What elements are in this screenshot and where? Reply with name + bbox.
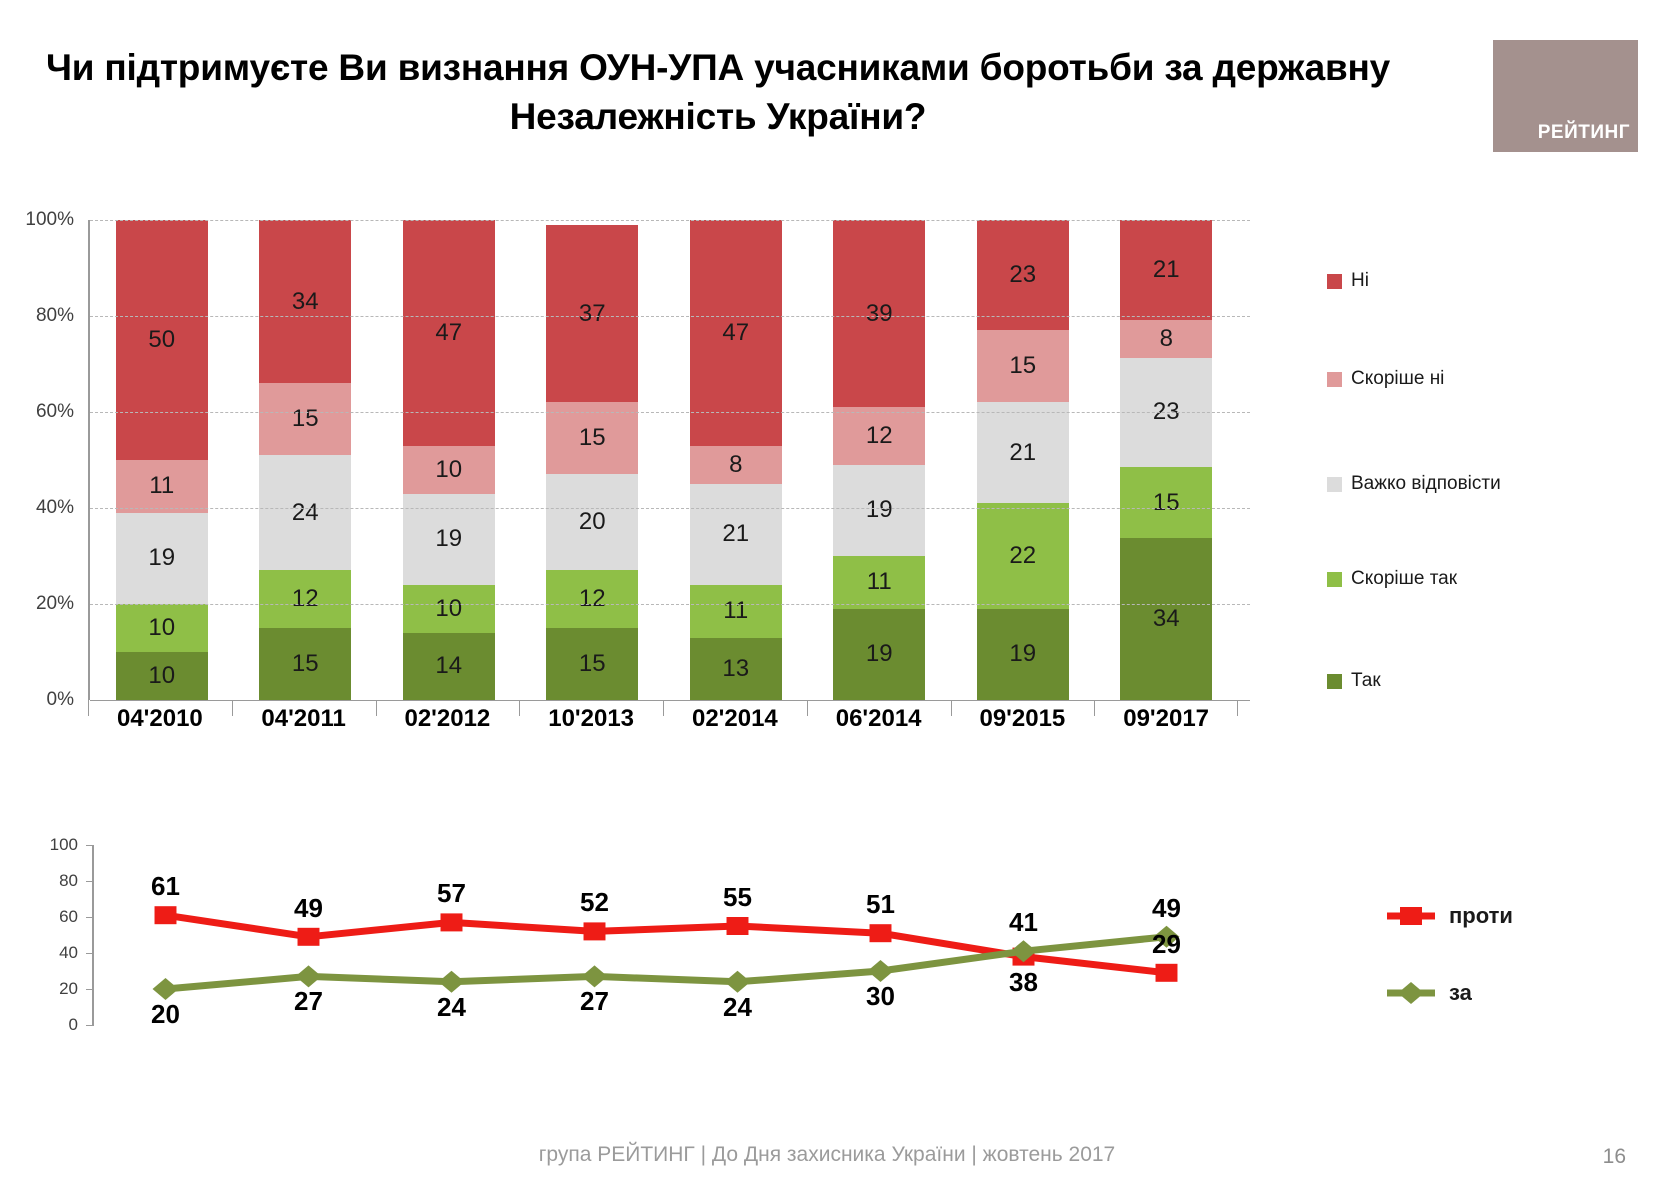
bar-segment: 11 <box>116 460 208 513</box>
line-data-label: 38 <box>1009 967 1038 998</box>
bar-segment-value: 19 <box>866 496 893 524</box>
bar-segment: 15 <box>1120 467 1212 538</box>
bar-segment-value: 22 <box>1009 542 1036 570</box>
line-data-label: 61 <box>151 871 180 902</box>
bar-segment-value: 11 <box>723 597 748 625</box>
line-data-label: 20 <box>151 999 180 1030</box>
bar-y-tick-label: 100% <box>25 209 74 231</box>
bar-segment-value: 21 <box>722 520 749 548</box>
bar-segment: 15 <box>259 383 351 455</box>
bar-segment-value: 12 <box>579 585 606 613</box>
bar-x-tick-label: 02'2014 <box>663 705 807 733</box>
bar-chart-legend: НіСкоріше ніВажко відповістиСкоріше такТ… <box>1327 250 1627 700</box>
line-y-tick-label: 100 <box>50 835 78 855</box>
legend-item-3[interactable]: Скоріше так <box>1327 568 1457 590</box>
legend-label: Скоріше так <box>1351 568 1457 590</box>
line-data-label: 41 <box>1009 907 1038 938</box>
bar-segment-value: 8 <box>1160 325 1173 353</box>
bar-segment: 12 <box>546 570 638 628</box>
bar-segment: 10 <box>403 585 495 633</box>
bar-segment-value: 15 <box>292 650 319 678</box>
bar-column: 1512241534 <box>234 220 378 700</box>
bar-chart-y-axis: 0%20%40%60%80%100% <box>0 200 80 680</box>
bar-x-tick-label: 10'2013 <box>519 705 663 733</box>
bar-segment-value: 12 <box>292 585 319 613</box>
bar-segment: 19 <box>977 609 1069 700</box>
page-title: Чи підтримуєте Ви визнання ОУН-УПА учасн… <box>38 44 1398 142</box>
line-data-label: 57 <box>437 878 466 909</box>
line-chart-data-labels: 61495752555138292027242724304149 <box>94 845 1238 1025</box>
bar-gridline <box>90 316 1250 317</box>
bar-segment: 15 <box>546 628 638 700</box>
legend-item-2[interactable]: Важко відповісти <box>1327 473 1501 495</box>
bar-segment-value: 21 <box>1009 439 1036 467</box>
line-data-label: 55 <box>723 882 752 913</box>
bar-gridline <box>90 412 1250 413</box>
bar-segment-value: 21 <box>1153 256 1180 284</box>
bar-column: 1010191150 <box>90 220 234 700</box>
bar-segment: 21 <box>690 484 782 585</box>
bar-y-tick-label: 80% <box>36 305 74 327</box>
line-y-tick <box>86 953 94 954</box>
bar-segment: 20 <box>546 474 638 570</box>
stacked-bar-chart: 0%20%40%60%80%100% 101019115015122415341… <box>0 200 1300 760</box>
bar-segment-value: 13 <box>722 655 749 683</box>
bar-y-tick-label: 0% <box>47 689 74 711</box>
bar-segment-value: 39 <box>866 300 893 328</box>
legend-swatch-icon <box>1327 477 1342 492</box>
bar-segment-value: 19 <box>148 544 175 572</box>
bar-segment-value: 15 <box>1009 352 1036 380</box>
page-number: 16 <box>1603 1145 1626 1169</box>
bar-x-tick-label: 09'2015 <box>951 705 1095 733</box>
line-legend-label: проти <box>1449 903 1513 929</box>
line-chart-legend: протиза <box>1385 885 1635 1025</box>
bar-segment-value: 15 <box>579 650 606 678</box>
bar-segment-value: 11 <box>149 472 174 500</box>
bar-segment-value: 19 <box>1009 640 1036 668</box>
line-legend-item-0[interactable]: проти <box>1385 903 1513 929</box>
line-data-label: 52 <box>580 887 609 918</box>
line-data-label: 29 <box>1152 929 1181 960</box>
bar-segment: 15 <box>259 628 351 700</box>
bar-segment-value: 10 <box>435 456 462 484</box>
legend-line-diamond-marker-icon <box>1385 980 1437 1006</box>
legend-item-0[interactable]: Ні <box>1327 270 1369 292</box>
stacked-bar: 1922211523 <box>977 220 1069 700</box>
bar-segment: 8 <box>690 446 782 484</box>
bar-segment-value: 15 <box>579 424 606 452</box>
bar-segment: 50 <box>116 220 208 460</box>
bar-segment-value: 12 <box>866 422 893 450</box>
bar-segment: 11 <box>690 585 782 638</box>
line-chart: 020406080100 614957525551382920272427243… <box>0 835 1300 1050</box>
bar-segment-value: 10 <box>435 595 462 623</box>
bar-y-tick-label: 40% <box>36 497 74 519</box>
bar-segment: 11 <box>833 556 925 609</box>
bar-segment-value: 47 <box>435 319 462 347</box>
line-y-tick-label: 20 <box>59 979 78 999</box>
bar-x-tick-label: 04'2011 <box>232 705 376 733</box>
line-y-tick <box>86 917 94 918</box>
bar-segment-value: 15 <box>292 405 319 433</box>
bar-chart-x-axis: 04'201004'201102'201210'201302'201406'20… <box>88 705 1238 733</box>
bar-segment: 39 <box>833 220 925 407</box>
bar-x-tick-label: 02'2012 <box>376 705 520 733</box>
stacked-bar: 1010191150 <box>116 220 208 700</box>
bar-segment: 13 <box>690 638 782 700</box>
bar-segment-value: 47 <box>722 319 749 347</box>
bar-segment: 21 <box>977 402 1069 503</box>
stacked-bar: 1512241534 <box>259 220 351 700</box>
bar-gridline <box>90 220 1250 221</box>
line-legend-item-1[interactable]: за <box>1385 980 1472 1006</box>
bar-segment-value: 11 <box>867 568 892 596</box>
bar-segment: 10 <box>403 446 495 494</box>
bar-x-tick-label: 09'2017 <box>1094 705 1238 733</box>
bar-segment-value: 14 <box>435 652 462 680</box>
logo-label: РЕЙТИНГ <box>1538 122 1630 144</box>
stacked-bar: 131121847 <box>690 220 782 700</box>
line-y-tick <box>86 845 94 846</box>
slide-root: Чи підтримуєте Ви визнання ОУН-УПА учасн… <box>0 0 1654 1181</box>
bar-segment-value: 23 <box>1009 261 1036 289</box>
line-y-tick <box>86 989 94 990</box>
bar-segment: 12 <box>833 407 925 465</box>
line-y-tick <box>86 1025 94 1026</box>
legend-label: Так <box>1351 670 1381 692</box>
bar-segment-value: 50 <box>148 326 175 354</box>
bar-segment: 22 <box>977 503 1069 609</box>
line-data-label: 30 <box>866 981 895 1012</box>
bar-segment-value: 8 <box>729 451 742 479</box>
stacked-bar: 341523821 <box>1120 220 1212 700</box>
bar-column: 131121847 <box>664 220 808 700</box>
legend-swatch-icon <box>1327 274 1342 289</box>
legend-swatch-icon <box>1327 372 1342 387</box>
bar-column: 1922211523 <box>951 220 1095 700</box>
line-data-label: 24 <box>437 992 466 1023</box>
bar-y-tick-label: 60% <box>36 401 74 423</box>
bar-segment-value: 10 <box>148 662 175 690</box>
legend-item-1[interactable]: Скоріше ні <box>1327 368 1444 390</box>
bar-column: 1911191239 <box>808 220 952 700</box>
bar-segment: 14 <box>403 633 495 700</box>
legend-label: Скоріше ні <box>1351 368 1444 390</box>
bar-segment-value: 19 <box>866 640 893 668</box>
bar-segment: 34 <box>1120 538 1212 700</box>
stacked-bar: 1512201537 <box>546 220 638 700</box>
bar-segment: 24 <box>259 455 351 570</box>
stacked-bar: 1410191047 <box>403 220 495 700</box>
line-data-label: 51 <box>866 889 895 920</box>
line-data-label: 27 <box>294 986 323 1017</box>
bar-segment: 12 <box>259 570 351 628</box>
bar-segment: 10 <box>116 604 208 652</box>
bar-segment: 37 <box>546 225 638 403</box>
line-data-label: 49 <box>294 893 323 924</box>
bar-segment: 21 <box>1120 220 1212 320</box>
legend-line-square-marker-icon <box>1385 903 1437 929</box>
line-data-label: 24 <box>723 992 752 1023</box>
legend-swatch-icon <box>1327 674 1342 689</box>
bar-column: 1410191047 <box>377 220 521 700</box>
legend-label: Ні <box>1351 270 1369 292</box>
bar-x-tick-label: 04'2010 <box>88 705 232 733</box>
bar-chart-plot-area: 1010191150151224153414101910471512201537… <box>88 220 1238 700</box>
line-y-tick <box>86 881 94 882</box>
bar-segment: 19 <box>116 513 208 604</box>
line-y-tick-label: 60 <box>59 907 78 927</box>
bar-gridline <box>90 604 1250 605</box>
bar-segment-value: 37 <box>579 300 606 328</box>
bar-segment: 19 <box>833 609 925 700</box>
bar-x-tick-label: 06'2014 <box>807 705 951 733</box>
bar-segment-value: 15 <box>1153 489 1180 517</box>
legend-swatch-icon <box>1327 572 1342 587</box>
line-y-tick-label: 80 <box>59 871 78 891</box>
bar-column: 341523821 <box>1095 220 1239 700</box>
footer-text: група РЕЙТИНГ | До Дня захисника України… <box>0 1143 1654 1167</box>
bar-segment-value: 10 <box>148 614 175 642</box>
bar-column: 1512201537 <box>521 220 665 700</box>
line-legend-label: за <box>1449 980 1472 1006</box>
bar-segment-value: 34 <box>1153 605 1180 633</box>
line-chart-y-axis: 020406080100 <box>0 835 86 1015</box>
bar-gridline <box>90 508 1250 509</box>
bar-segment: 23 <box>977 220 1069 330</box>
line-chart-plot-area: 61495752555138292027242724304149 <box>92 845 1238 1025</box>
bar-segment: 15 <box>546 402 638 474</box>
bar-segment: 8 <box>1120 320 1212 358</box>
bar-segment: 34 <box>259 220 351 383</box>
legend-label: Важко відповісти <box>1351 473 1501 495</box>
line-data-label: 27 <box>580 986 609 1017</box>
bar-segment: 15 <box>977 330 1069 402</box>
stacked-bar: 1911191239 <box>833 220 925 700</box>
line-data-label: 49 <box>1152 893 1181 924</box>
bar-segment: 19 <box>833 465 925 556</box>
bar-segment-value: 24 <box>292 499 319 527</box>
bar-segment-value: 20 <box>579 508 606 536</box>
bar-segment-value: 34 <box>292 288 319 316</box>
line-y-tick-label: 40 <box>59 943 78 963</box>
bar-segment-value: 19 <box>435 525 462 553</box>
rating-logo: РЕЙТИНГ <box>1493 40 1638 152</box>
bar-y-tick-label: 20% <box>36 593 74 615</box>
legend-item-4[interactable]: Так <box>1327 670 1381 692</box>
line-y-tick-label: 0 <box>69 1015 78 1035</box>
bar-segment: 10 <box>116 652 208 700</box>
